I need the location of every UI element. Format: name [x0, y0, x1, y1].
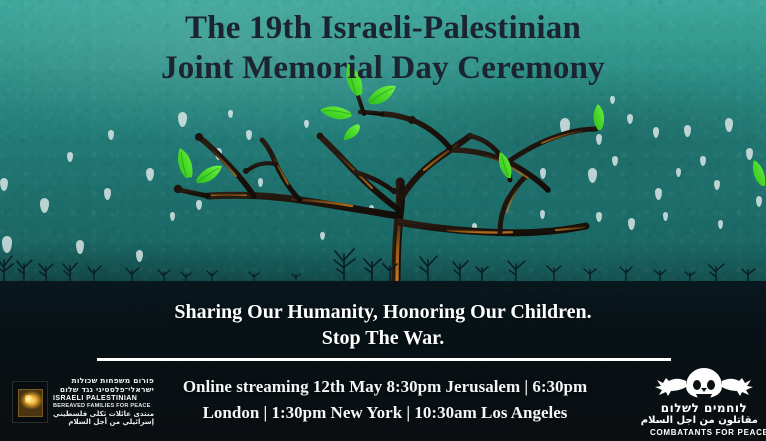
bush-silhouette: [330, 240, 400, 282]
logo-right-hebrew: לוחמים לשלום: [650, 402, 758, 415]
raindrop: [700, 156, 706, 166]
raindrop: [67, 152, 73, 162]
raindrop: [596, 212, 602, 222]
raindrop: [304, 120, 309, 128]
raindrop: [196, 200, 202, 210]
logo-right-english: COMBATANTS FOR PEACE: [650, 427, 758, 438]
logo-left-english-line-2: BEREAVED FAMILIES FOR PEACE: [53, 404, 154, 410]
logo-combatants-for-peace: לוחמים לשלום مقاتلون من اجل السلام COMBA…: [650, 366, 758, 438]
raindrop: [718, 220, 723, 229]
raindrop: [610, 96, 615, 104]
raindrop: [655, 188, 662, 200]
raindrop: [663, 212, 668, 221]
raindrop: [258, 178, 263, 187]
raindrop: [108, 130, 114, 140]
streaming-line-1: Online streaming 12th May 8:30pm Jerusal…: [120, 374, 650, 400]
raindrop: [628, 218, 635, 230]
raindrop: [684, 125, 691, 137]
raindrop: [472, 223, 477, 232]
raindrop: [40, 198, 49, 213]
raindrop: [246, 130, 252, 140]
raindrop: [228, 110, 233, 118]
title-line-2: Joint Memorial Day Ceremony: [0, 48, 766, 88]
title-line-1: The 19th Israeli-Palestinian: [185, 10, 581, 46]
bush-silhouette: [412, 244, 492, 282]
raindrop: [320, 232, 325, 240]
raindrop: [756, 196, 762, 207]
logo-left-arabic-line-2: إسرائيلي من أجل السلام: [53, 419, 154, 426]
logo-right-arabic: مقاتلون من اجل السلام: [650, 415, 758, 427]
bush-silhouette: [700, 256, 766, 282]
raindrop: [588, 168, 597, 183]
bush-silhouette: [58, 256, 118, 282]
raindrop: [369, 205, 374, 214]
raindrop: [560, 118, 570, 135]
raindrop: [540, 168, 546, 179]
raindrop: [676, 168, 681, 177]
logo-left-hebrew-line-1: פורום משפחות שכולות: [53, 377, 154, 385]
combatants-for-peace-dove-icon: [650, 366, 758, 402]
raindrop: [612, 156, 618, 166]
bush-silhouette: [0, 248, 64, 282]
raindrop: [627, 114, 633, 124]
bush-silhouette: [612, 260, 702, 282]
raindrop: [136, 250, 143, 262]
raindrop: [104, 188, 111, 200]
raindrop: [746, 148, 753, 160]
raindrop: [725, 118, 733, 132]
tagline-line-2: Stop The War.: [0, 325, 766, 351]
bush-silhouette: [118, 262, 198, 282]
tagline-line-1: Sharing Our Humanity, Honoring Our Child…: [0, 299, 766, 325]
streaming-details: Online streaming 12th May 8:30pm Jerusal…: [120, 374, 650, 426]
raindrop: [540, 210, 545, 219]
divider-line: [97, 358, 671, 361]
raindrop: [653, 127, 659, 138]
raindrop: [596, 134, 602, 145]
raindrop: [714, 180, 720, 190]
raindrop: [76, 240, 84, 254]
memorial-ceremony-poster: The 19th Israeli-Palestinian Joint Memor…: [0, 0, 766, 441]
raindrop: [0, 178, 8, 191]
raindrop: [178, 112, 187, 127]
raindrop: [170, 212, 175, 221]
raindrop: [146, 168, 154, 181]
raindrop: [215, 148, 222, 160]
logo-left-hebrew-line-2: ישראלי־פלסטיני נגד שלום: [53, 386, 154, 394]
page-title: The 19th Israeli-Palestinian Joint Memor…: [0, 8, 766, 88]
streaming-line-2: London | 1:30pm New York | 10:30am Los A…: [120, 400, 650, 426]
bush-silhouette: [196, 266, 316, 282]
tagline: Sharing Our Humanity, Honoring Our Child…: [0, 299, 766, 351]
logo-left-english-line-1: ISRAELI PALESTINIAN: [53, 395, 154, 402]
logo-bereaved-families-for-peace: פורום משפחות שכולות ישראלי־פלסטיני נגד ש…: [12, 377, 154, 428]
bush-silhouette: [498, 252, 608, 282]
bereaved-families-emblem-icon: [12, 381, 48, 423]
logo-left-arabic-line-1: منتدى عائلات ثكلى فلسطيني: [53, 411, 154, 418]
